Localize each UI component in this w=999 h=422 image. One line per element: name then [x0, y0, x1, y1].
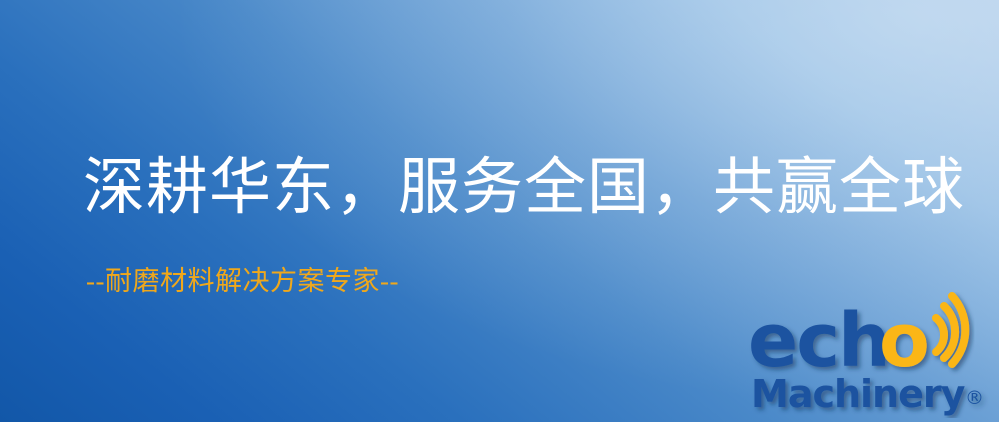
- echo-machinery-logo: ech o Machinery ®: [748, 292, 994, 418]
- banner-subtitle: --耐磨材料解决方案专家--: [86, 264, 399, 298]
- logo-registered-mark: ®: [965, 387, 984, 409]
- promotional-banner: 深耕华东，服务全国，共赢全球 --耐磨材料解决方案专家-- ech o: [0, 0, 999, 422]
- logo-machinery-text: Machinery: [751, 372, 966, 416]
- signal-waves-icon: [936, 296, 965, 364]
- signal-wave-arc-inner: [936, 318, 944, 352]
- banner-headline: 深耕华东，服务全国，共赢全球: [83, 152, 965, 224]
